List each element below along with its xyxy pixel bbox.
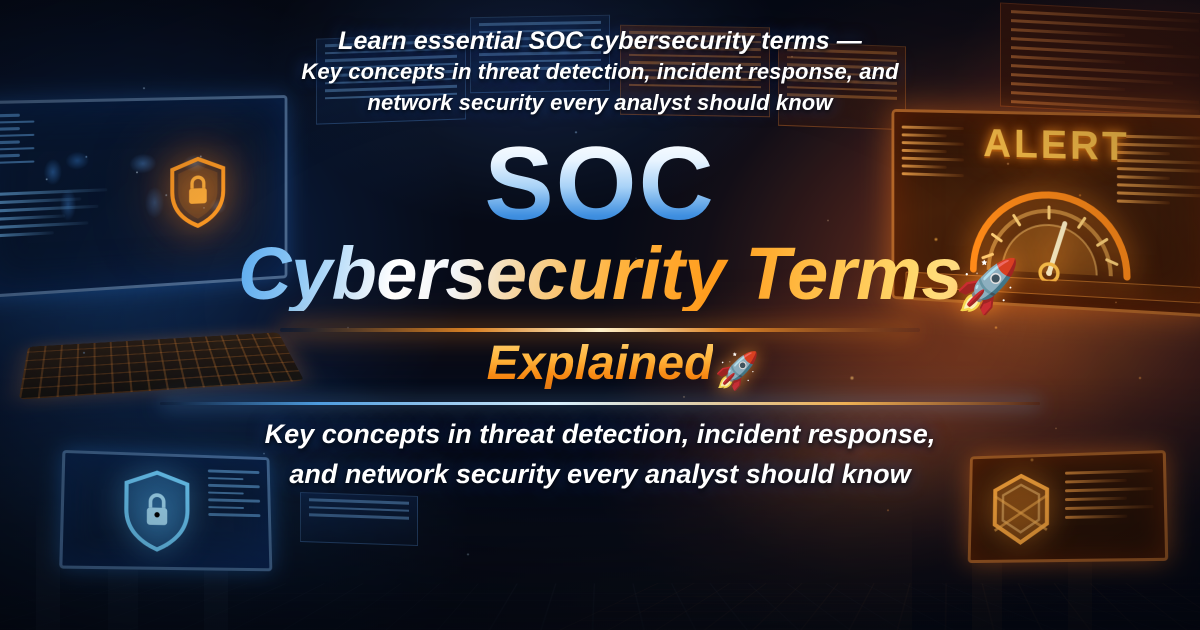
- title-explained-wrap: Explained 🚀: [487, 339, 714, 389]
- foreground-text-layer: Learn essential SOC cybersecurity terms …: [0, 0, 1200, 630]
- kicker-line-2: Key concepts in threat detection, incide…: [0, 56, 1200, 87]
- kicker-line-3: network security every analyst should kn…: [0, 87, 1200, 118]
- kicker-line-1: Learn essential SOC cybersecurity terms …: [0, 26, 1200, 56]
- subtitle-line-1: Key concepts in threat detection, incide…: [0, 414, 1200, 454]
- title-soc-wrap: SOC: [484, 134, 715, 236]
- title-line-terms: Cybersecurity Terms: [238, 236, 962, 311]
- kicker-text: Learn essential SOC cybersecurity terms …: [0, 26, 1200, 118]
- title-line-explained: Explained: [487, 339, 714, 389]
- title-terms-wrap: Cybersecurity Terms 🚀: [238, 236, 962, 311]
- blue-light-divider: [160, 402, 1040, 405]
- rocket-icon: 🚀: [715, 353, 760, 389]
- title-block: SOC Cybersecurity Terms 🚀 Explained 🚀: [0, 134, 1200, 390]
- subtitle-text: Key concepts in threat detection, incide…: [0, 414, 1200, 494]
- rocket-icon: 🚀: [955, 261, 1020, 313]
- subtitle-line-2: and network security every analyst shoul…: [0, 454, 1200, 494]
- soc-cybersecurity-banner: ALERT: [0, 0, 1200, 630]
- title-line-soc: SOC: [484, 134, 715, 236]
